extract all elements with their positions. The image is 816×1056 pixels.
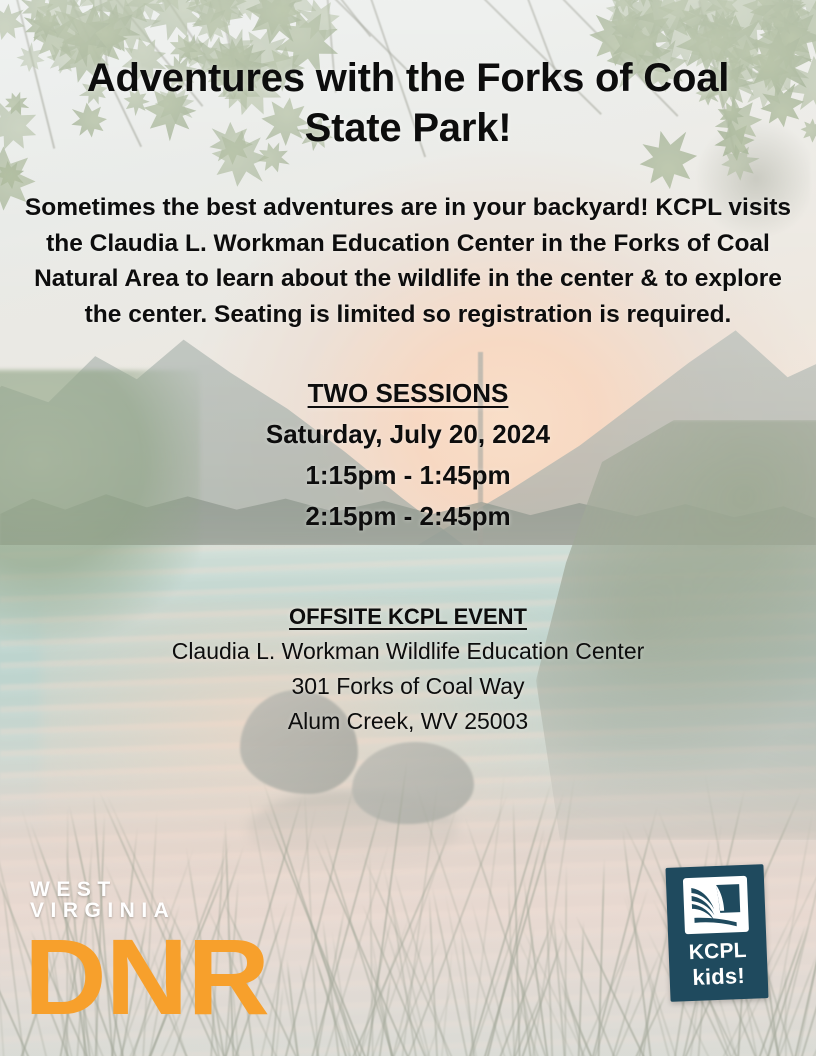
kcpl-kids-tagline: kids!	[692, 964, 745, 989]
offsite-city-state-zip: Alum Creek, WV 25003	[172, 708, 645, 735]
page-title: Adventures with the Forks of Coal State …	[46, 53, 770, 153]
kcpl-wordmark: KCPL	[688, 940, 747, 964]
kcpl-kids-logo: KCPL kids!	[665, 864, 768, 1002]
dnr-state-label: WEST VIRGINIA	[30, 879, 254, 921]
dnr-wordmark: DNR	[24, 929, 268, 1024]
description-paragraph: Sometimes the best adventures are in you…	[22, 190, 794, 332]
session-time-1: 1:15pm - 1:45pm	[266, 460, 550, 491]
event-flyer: Adventures with the Forks of Coal State …	[0, 0, 816, 1056]
wv-dnr-logo: WEST VIRGINIA DNR	[24, 879, 254, 1024]
offsite-block: OFFSITE KCPL EVENT Claudia L. Workman Wi…	[172, 604, 645, 735]
offsite-heading: OFFSITE KCPL EVENT	[172, 604, 645, 630]
offsite-venue: Claudia L. Workman Wildlife Education Ce…	[172, 638, 645, 665]
open-book-icon	[683, 876, 749, 934]
offsite-street: 301 Forks of Coal Way	[172, 673, 645, 700]
sessions-block: TWO SESSIONS Saturday, July 20, 2024 1:1…	[266, 378, 550, 532]
session-date: Saturday, July 20, 2024	[266, 419, 550, 450]
sessions-heading: TWO SESSIONS	[266, 378, 550, 409]
session-time-2: 2:15pm - 2:45pm	[266, 501, 550, 532]
